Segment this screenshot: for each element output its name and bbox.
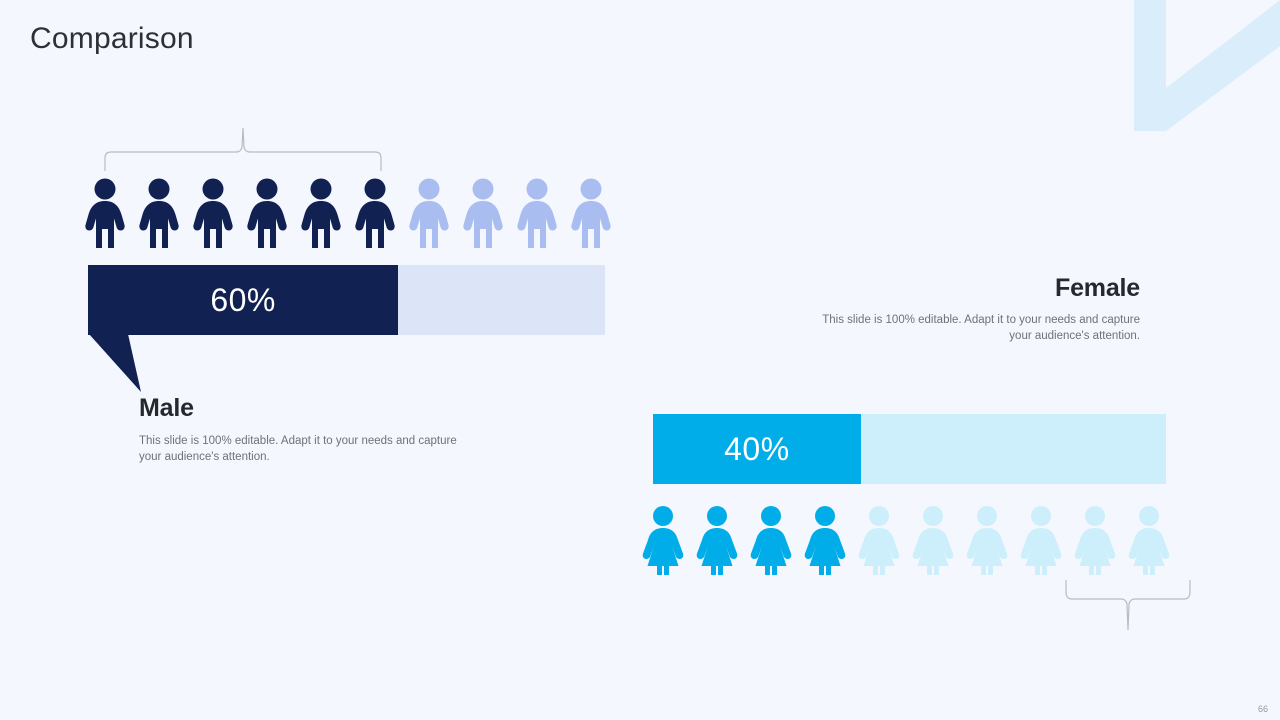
female-pictogram-icon-inactive	[1127, 505, 1171, 577]
female-pictogram-icon-inactive	[965, 505, 1009, 577]
male-pictogram-icon-inactive	[516, 178, 558, 250]
male-pictogram-icon	[246, 178, 288, 250]
female-body-text: This slide is 100% editable. Adapt it to…	[805, 312, 1140, 344]
male-pictogram-icon	[192, 178, 234, 250]
male-pictogram-icon	[138, 178, 180, 250]
female-pictogram-icon	[695, 505, 739, 577]
female-heading: Female	[805, 274, 1140, 303]
male-percent-label: 60%	[210, 282, 276, 319]
male-body-text: This slide is 100% editable. Adapt it to…	[139, 433, 469, 465]
female-pictogram-icon	[641, 505, 685, 577]
male-bar-callout-tail	[88, 334, 158, 396]
female-pictogram-icon-inactive	[857, 505, 901, 577]
male-bar-fill: 60%	[88, 265, 398, 335]
page-title: Comparison	[30, 22, 194, 56]
male-pictogram-icon-inactive	[462, 178, 504, 250]
female-bracket	[1058, 580, 1203, 637]
female-bar-track: 40%	[653, 414, 1166, 484]
female-icon-row	[641, 505, 1171, 577]
male-pictogram-icon-inactive	[570, 178, 612, 250]
female-pictogram-icon	[803, 505, 847, 577]
female-bar-fill: 40%	[653, 414, 861, 484]
male-pictogram-icon	[84, 178, 126, 250]
male-pictogram-icon	[300, 178, 342, 250]
male-pictogram-icon	[354, 178, 396, 250]
male-heading: Male	[139, 394, 469, 423]
male-progress-bar: 60%	[88, 265, 605, 335]
male-bar-track: 60%	[88, 265, 605, 335]
female-progress-bar: 40%	[653, 414, 1166, 484]
female-percent-label: 40%	[724, 431, 790, 468]
male-text-block: Male This slide is 100% editable. Adapt …	[139, 394, 469, 465]
page-number: 66	[1258, 704, 1268, 714]
female-pictogram-icon-inactive	[911, 505, 955, 577]
female-pictogram-icon-inactive	[1073, 505, 1117, 577]
male-icon-row	[84, 178, 612, 250]
male-bracket	[100, 126, 390, 176]
male-pictogram-icon-inactive	[408, 178, 450, 250]
female-pictogram-icon	[749, 505, 793, 577]
female-pictogram-icon-inactive	[1019, 505, 1063, 577]
corner-decoration	[1120, 0, 1280, 150]
female-text-block: Female This slide is 100% editable. Adap…	[805, 274, 1140, 344]
